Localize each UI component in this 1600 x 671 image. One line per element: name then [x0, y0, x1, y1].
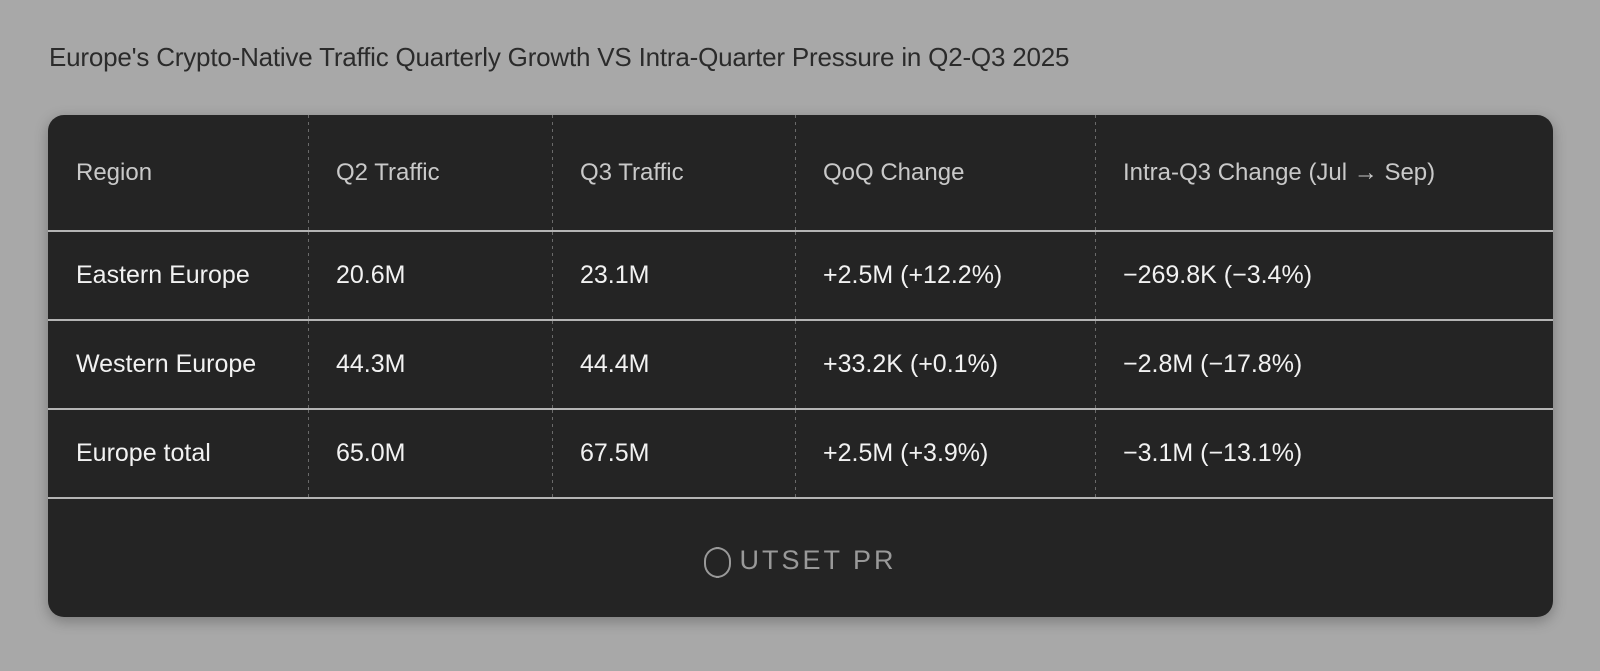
row-separator — [48, 497, 1553, 499]
cell-qoq-change: +33.2K (+0.1%) — [795, 321, 1095, 408]
header-separator — [48, 230, 1553, 232]
cell-intra-q3-change: −3.1M (−13.1%) — [1095, 410, 1553, 497]
table-row: Eastern Europe 20.6M 23.1M +2.5M (+12.2%… — [48, 232, 1553, 319]
cell-intra-q3-change: −2.8M (−17.8%) — [1095, 321, 1553, 408]
row-separator — [48, 319, 1553, 321]
cell-region: Western Europe — [48, 321, 308, 408]
cell-region: Eastern Europe — [48, 232, 308, 319]
table-footer: UTSET PR — [48, 499, 1553, 617]
cell-q3-traffic: 23.1M — [552, 232, 795, 319]
cell-qoq-change: +2.5M (+12.2%) — [795, 232, 1095, 319]
cell-q3-traffic: 67.5M — [552, 410, 795, 497]
column-header-qoq-change: QoQ Change — [795, 115, 1095, 230]
cell-q2-traffic: 65.0M — [308, 410, 552, 497]
page-title: Europe's Crypto-Native Traffic Quarterly… — [49, 42, 1069, 73]
table-header-row: Region Q2 Traffic Q3 Traffic QoQ Change … — [48, 115, 1553, 230]
table-row: Western Europe 44.3M 44.4M +33.2K (+0.1%… — [48, 321, 1553, 408]
traffic-comparison-table: Region Q2 Traffic Q3 Traffic QoQ Change … — [48, 115, 1553, 617]
row-separator — [48, 408, 1553, 410]
column-header-q2-traffic: Q2 Traffic — [308, 115, 552, 230]
cell-region: Europe total — [48, 410, 308, 497]
screenshot-root: Europe's Crypto-Native Traffic Quarterly… — [0, 0, 1600, 671]
cell-q2-traffic: 44.3M — [308, 321, 552, 408]
table-row: Europe total 65.0M 67.5M +2.5M (+3.9%) −… — [48, 410, 1553, 497]
outset-pr-logo: UTSET PR — [704, 545, 896, 576]
cell-q2-traffic: 20.6M — [308, 232, 552, 319]
cell-qoq-change: +2.5M (+3.9%) — [795, 410, 1095, 497]
split-circle-icon — [704, 547, 731, 574]
column-header-region: Region — [48, 115, 308, 230]
cell-q3-traffic: 44.4M — [552, 321, 795, 408]
column-header-intra-q3-change: Intra-Q3 Change (Jul → Sep) — [1095, 115, 1553, 230]
column-header-q3-traffic: Q3 Traffic — [552, 115, 795, 230]
logo-text: UTSET PR — [739, 545, 896, 576]
cell-intra-q3-change: −269.8K (−3.4%) — [1095, 232, 1553, 319]
